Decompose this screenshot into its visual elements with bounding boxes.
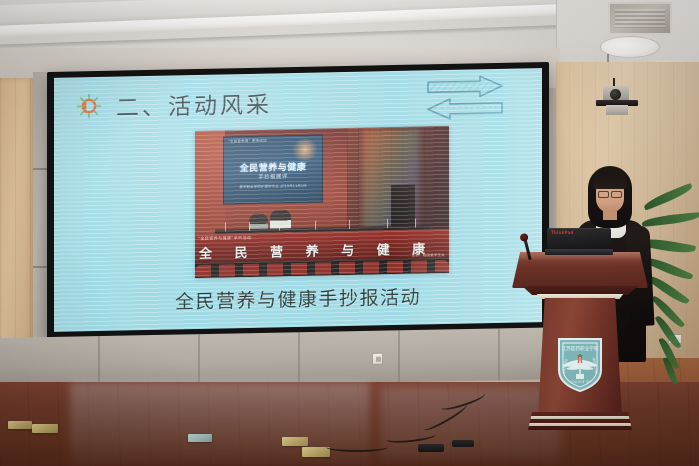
svg-text:江苏医药职业学院: 江苏医药职业学院 bbox=[562, 345, 599, 352]
presenter-bangs bbox=[593, 173, 627, 189]
led-video-wall-bezel: 二、活动风采 bbox=[47, 62, 549, 340]
wood-column-left bbox=[0, 78, 34, 378]
photo-slide-logo: “全民营养周” 宣传活动 bbox=[228, 139, 267, 145]
ceiling-air-vent-icon bbox=[608, 2, 672, 35]
svg-text:COLLEGE OF: COLLEGE OF bbox=[570, 380, 590, 384]
photo-banner-right-text: 主办：校团委学生会 bbox=[412, 252, 445, 258]
stone-wall-band bbox=[0, 327, 562, 390]
laptop-brand-logo: ThinkPad bbox=[551, 230, 573, 235]
laptop-lid: ThinkPad bbox=[547, 228, 611, 250]
conference-hall-scene: 二、活动风采 bbox=[0, 0, 699, 466]
laptop[interactable]: ThinkPad bbox=[545, 228, 613, 256]
floor-cable-1 bbox=[326, 442, 388, 452]
photo-slide-subtitle: 手抄报展评 bbox=[224, 171, 322, 181]
floor-adapter[interactable] bbox=[452, 440, 474, 447]
slide-inner-photo: “全民营养周” 宣传活动 全民营养与健康 手抄报展评 泰平职业学院护理学专业 2… bbox=[195, 126, 449, 278]
power-strip[interactable] bbox=[418, 444, 444, 452]
sun-flower-bullet-icon bbox=[76, 93, 102, 120]
lectern-lip bbox=[517, 286, 643, 295]
two-way-arrow-icon bbox=[422, 75, 508, 123]
led-video-wall-screen[interactable]: 二、活动风采 bbox=[54, 68, 542, 332]
wooden-lectern: 江苏医药职业学院 JIANGSU MEDICINE COLLEGE OF bbox=[512, 252, 648, 430]
photo-banner-top-text: “全民营养与健康”系列活动 bbox=[198, 235, 251, 242]
presenter-glasses-icon bbox=[598, 191, 622, 196]
ceiling-mounted-projector-speaker-icon bbox=[594, 78, 640, 112]
floor-outlet-cover-1[interactable] bbox=[8, 421, 32, 429]
floor-outlet-cover-2[interactable] bbox=[32, 424, 58, 433]
slide-title-row: 二、活动风采 bbox=[76, 85, 272, 123]
slide-caption: 全民营养与健康手抄报活动 bbox=[54, 280, 542, 317]
photo-projected-slide: “全民营养周” 宣传活动 全民营养与健康 手抄报展评 泰平职业学院护理学专业 2… bbox=[223, 134, 323, 204]
floor-outlet-cover-5[interactable] bbox=[302, 447, 330, 457]
photo-slide-decoration bbox=[292, 139, 318, 162]
photo-slide-footer: 泰平职业学院护理学专业 2019年11月1日 bbox=[224, 183, 322, 190]
laptop-base bbox=[545, 249, 613, 255]
floor-outlet-cover-3[interactable] bbox=[188, 434, 212, 442]
wall-outlet-1[interactable] bbox=[372, 353, 383, 365]
lectern-top bbox=[512, 252, 648, 288]
medical-college-shield-emblem: 江苏医药职业学院 JIANGSU MEDICINE COLLEGE OF bbox=[556, 336, 604, 394]
slide-title: 二、活动风采 bbox=[116, 85, 272, 122]
lectern-base bbox=[528, 412, 632, 430]
presenter-neck bbox=[603, 210, 617, 220]
floor-outlet-cover-4[interactable] bbox=[282, 437, 308, 446]
